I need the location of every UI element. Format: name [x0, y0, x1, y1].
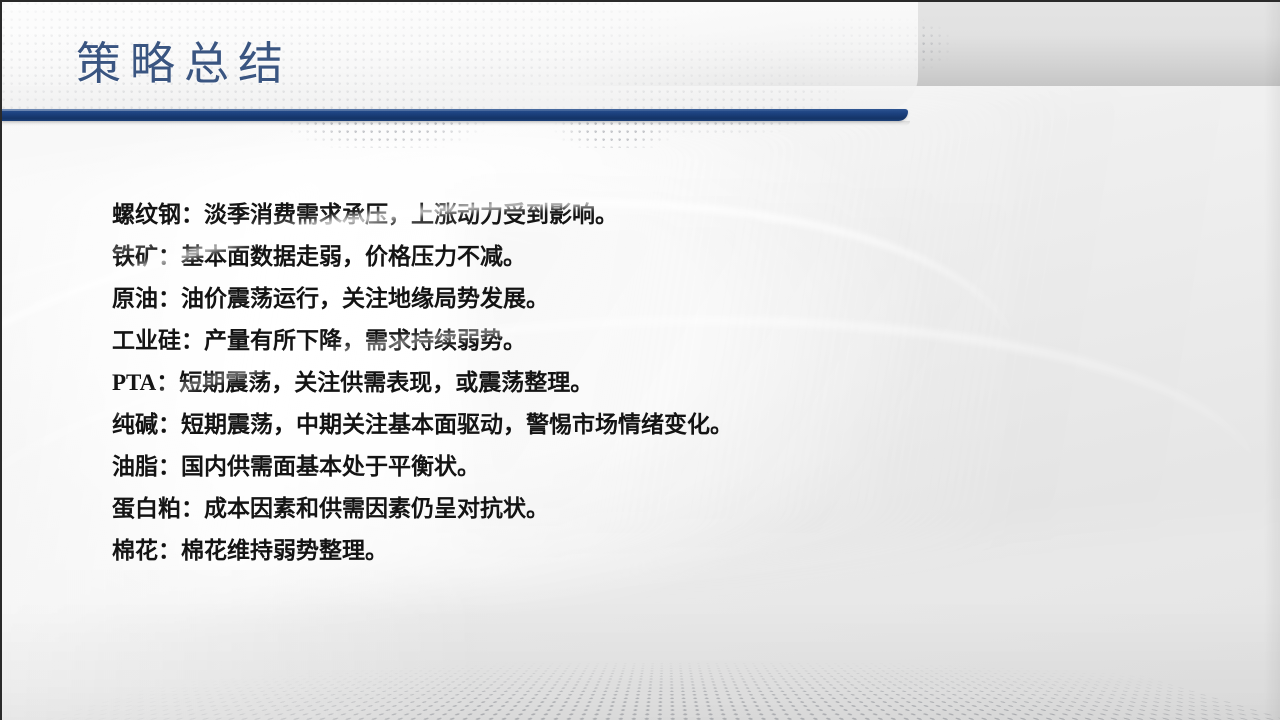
list-item: 纯碱：短期震荡，中期关注基本面驱动，警惕市场情绪变化。: [112, 404, 1112, 446]
list-item-term: 油脂：: [112, 454, 181, 479]
navy-rule-shadow: [2, 121, 910, 126]
list-item-desc: 短期震荡，中期关注基本面驱动，警惕市场情绪变化。: [181, 412, 733, 437]
summary-list: 螺纹钢：淡季消费需求承压，上涨动力受到影响。 铁矿：基本面数据走弱，价格压力不减…: [112, 194, 1112, 572]
list-item-desc: 油价震荡运行，关注地缘局势发展。: [181, 286, 549, 311]
list-item-term: 原油：: [112, 286, 181, 311]
list-item: 原油：油价震荡运行，关注地缘局势发展。: [112, 278, 1112, 320]
list-item: 油脂：国内供需面基本处于平衡状。: [112, 446, 1112, 488]
navy-rule-highlight: [2, 109, 908, 111]
skyline-silhouette-icon: [2, 530, 522, 720]
list-item-term: 纯碱：: [112, 412, 181, 437]
list-item-term: 铁矿：: [112, 244, 181, 269]
list-item-desc: 淡季消费需求承压，上涨动力受到影响。: [204, 202, 618, 227]
list-item: PTA：短期震荡，关注供需表现，或震荡整理。: [112, 362, 1112, 404]
list-item-desc: 基本面数据走弱，价格压力不减。: [181, 244, 526, 269]
slide: 策略总结 螺纹钢：淡季消费需求承压，上涨动力受到影响。 铁矿：基本面数据走弱，价…: [0, 0, 1280, 720]
list-item-term: PTA：: [112, 370, 179, 395]
list-item-term: 工业硅：: [112, 328, 204, 353]
list-item: 铁矿：基本面数据走弱，价格压力不减。: [112, 236, 1112, 278]
navy-accent-rule: [2, 109, 908, 121]
list-item-desc: 产量有所下降，需求持续弱势。: [204, 328, 526, 353]
list-item: 螺纹钢：淡季消费需求承压，上涨动力受到影响。: [112, 194, 1112, 236]
list-item-term: 螺纹钢：: [112, 202, 204, 227]
page-title: 策略总结: [76, 36, 292, 92]
list-item: 工业硅：产量有所下降，需求持续弱势。: [112, 320, 1112, 362]
list-item-desc: 成本因素和供需因素仍呈对抗状。: [204, 496, 549, 521]
list-item: 蛋白粕：成本因素和供需因素仍呈对抗状。: [112, 488, 1112, 530]
list-item-desc: 国内供需面基本处于平衡状。: [181, 454, 480, 479]
list-item-desc: 短期震荡，关注供需表现，或震荡整理。: [179, 370, 593, 395]
list-item-term: 蛋白粕：: [112, 496, 204, 521]
